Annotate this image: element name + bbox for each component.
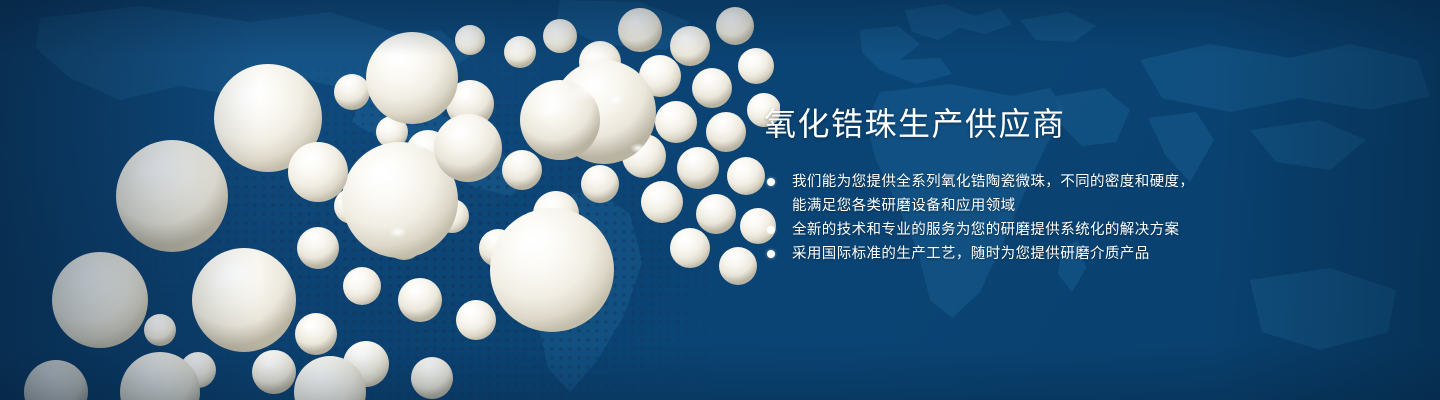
filled-circle-bullet-icon	[767, 226, 775, 234]
bullet-line-1: 我们能为您提供全系列氧化锆陶瓷微珠，不同的密度和硬度，	[792, 174, 1194, 190]
bullet-line-2: 能满足您各类研磨设备和应用领域	[792, 194, 1384, 218]
page-title: 氧化锆珠生产供应商	[764, 104, 1384, 144]
list-item: 全新的技术和专业的服务为您的研磨提供系统化的解决方案	[764, 218, 1384, 242]
feature-bullet-list: 我们能为您提供全系列氧化锆陶瓷微珠，不同的密度和硬度， 能满足您各类研磨设备和应…	[764, 170, 1384, 266]
list-item: 采用国际标准的生产工艺，随时为您提供研磨介质产品	[764, 242, 1384, 266]
filled-circle-bullet-icon	[767, 250, 775, 258]
list-item: 我们能为您提供全系列氧化锆陶瓷微珠，不同的密度和硬度， 能满足您各类研磨设备和应…	[764, 170, 1384, 218]
filled-circle-bullet-icon	[767, 178, 775, 186]
bullet-line-1: 采用国际标准的生产工艺，随时为您提供研磨介质产品	[792, 246, 1150, 262]
banner-copy: 氧化锆珠生产供应商 我们能为您提供全系列氧化锆陶瓷微珠，不同的密度和硬度， 能满…	[764, 104, 1384, 266]
bullet-line-1: 全新的技术和专业的服务为您的研磨提供系统化的解决方案	[792, 222, 1179, 238]
hero-banner: 氧化锆珠生产供应商 我们能为您提供全系列氧化锆陶瓷微珠，不同的密度和硬度， 能满…	[0, 0, 1440, 400]
